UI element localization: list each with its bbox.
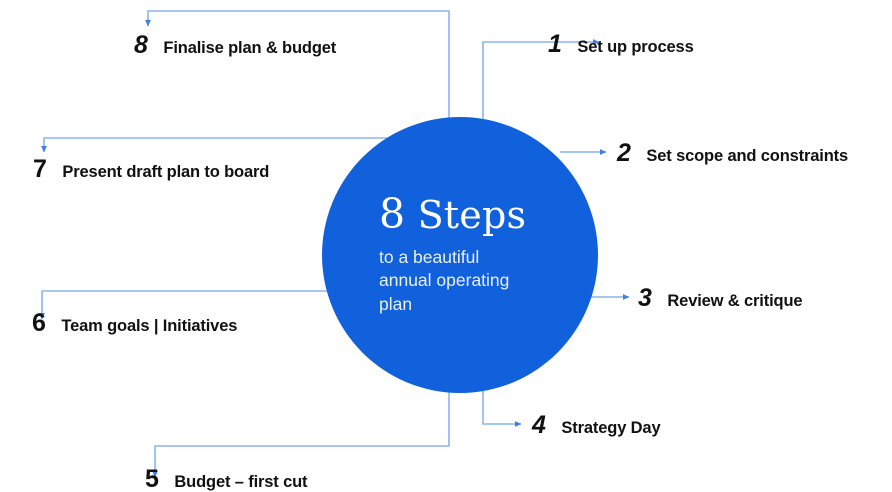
step-8-label: Finalise plan & budget <box>163 39 336 58</box>
step-3-label: Review & critique <box>667 292 802 311</box>
step-6[interactable]: 6 Team goals | Initiatives <box>32 309 237 338</box>
center-subtitle: to a beautiful annual operating plan <box>379 246 529 316</box>
step-2-label: Set scope and constraints <box>646 147 848 166</box>
step-2[interactable]: 2 Set scope and constraints <box>617 139 848 168</box>
step-8[interactable]: 8 Finalise plan & budget <box>134 31 336 60</box>
step-4[interactable]: 4 Strategy Day <box>532 411 660 440</box>
step-5-label: Budget – first cut <box>174 473 307 492</box>
step-8-number: 8 <box>134 31 147 60</box>
center-headline-word: Steps <box>418 193 527 237</box>
step-7-label: Present draft plan to board <box>62 163 269 182</box>
step-5[interactable]: 5 Budget – first cut <box>145 465 307 492</box>
step-1-number: 1 <box>548 30 561 59</box>
step-4-label: Strategy Day <box>561 419 660 438</box>
diagram-canvas: 8 Steps to a beautiful annual operating … <box>0 0 892 492</box>
step-3-number: 3 <box>638 284 651 313</box>
center-circle: 8 Steps to a beautiful annual operating … <box>322 117 598 393</box>
center-circle-content: 8 Steps to a beautiful annual operating … <box>322 117 598 393</box>
step-1-label: Set up process <box>577 38 693 57</box>
center-headline-spacer <box>405 193 417 237</box>
step-7[interactable]: 7 Present draft plan to board <box>33 155 269 184</box>
center-headline: 8 Steps <box>379 194 526 235</box>
step-3[interactable]: 3 Review & critique <box>638 284 802 313</box>
step-1[interactable]: 1 Set up process <box>548 30 694 59</box>
step-2-number: 2 <box>617 139 630 168</box>
step-5-number: 5 <box>145 465 158 492</box>
step-7-number: 7 <box>33 155 46 184</box>
step-6-label: Team goals | Initiatives <box>61 317 237 336</box>
step-6-number: 6 <box>32 309 45 338</box>
step-4-number: 4 <box>532 411 545 440</box>
center-headline-number: 8 <box>379 190 405 238</box>
